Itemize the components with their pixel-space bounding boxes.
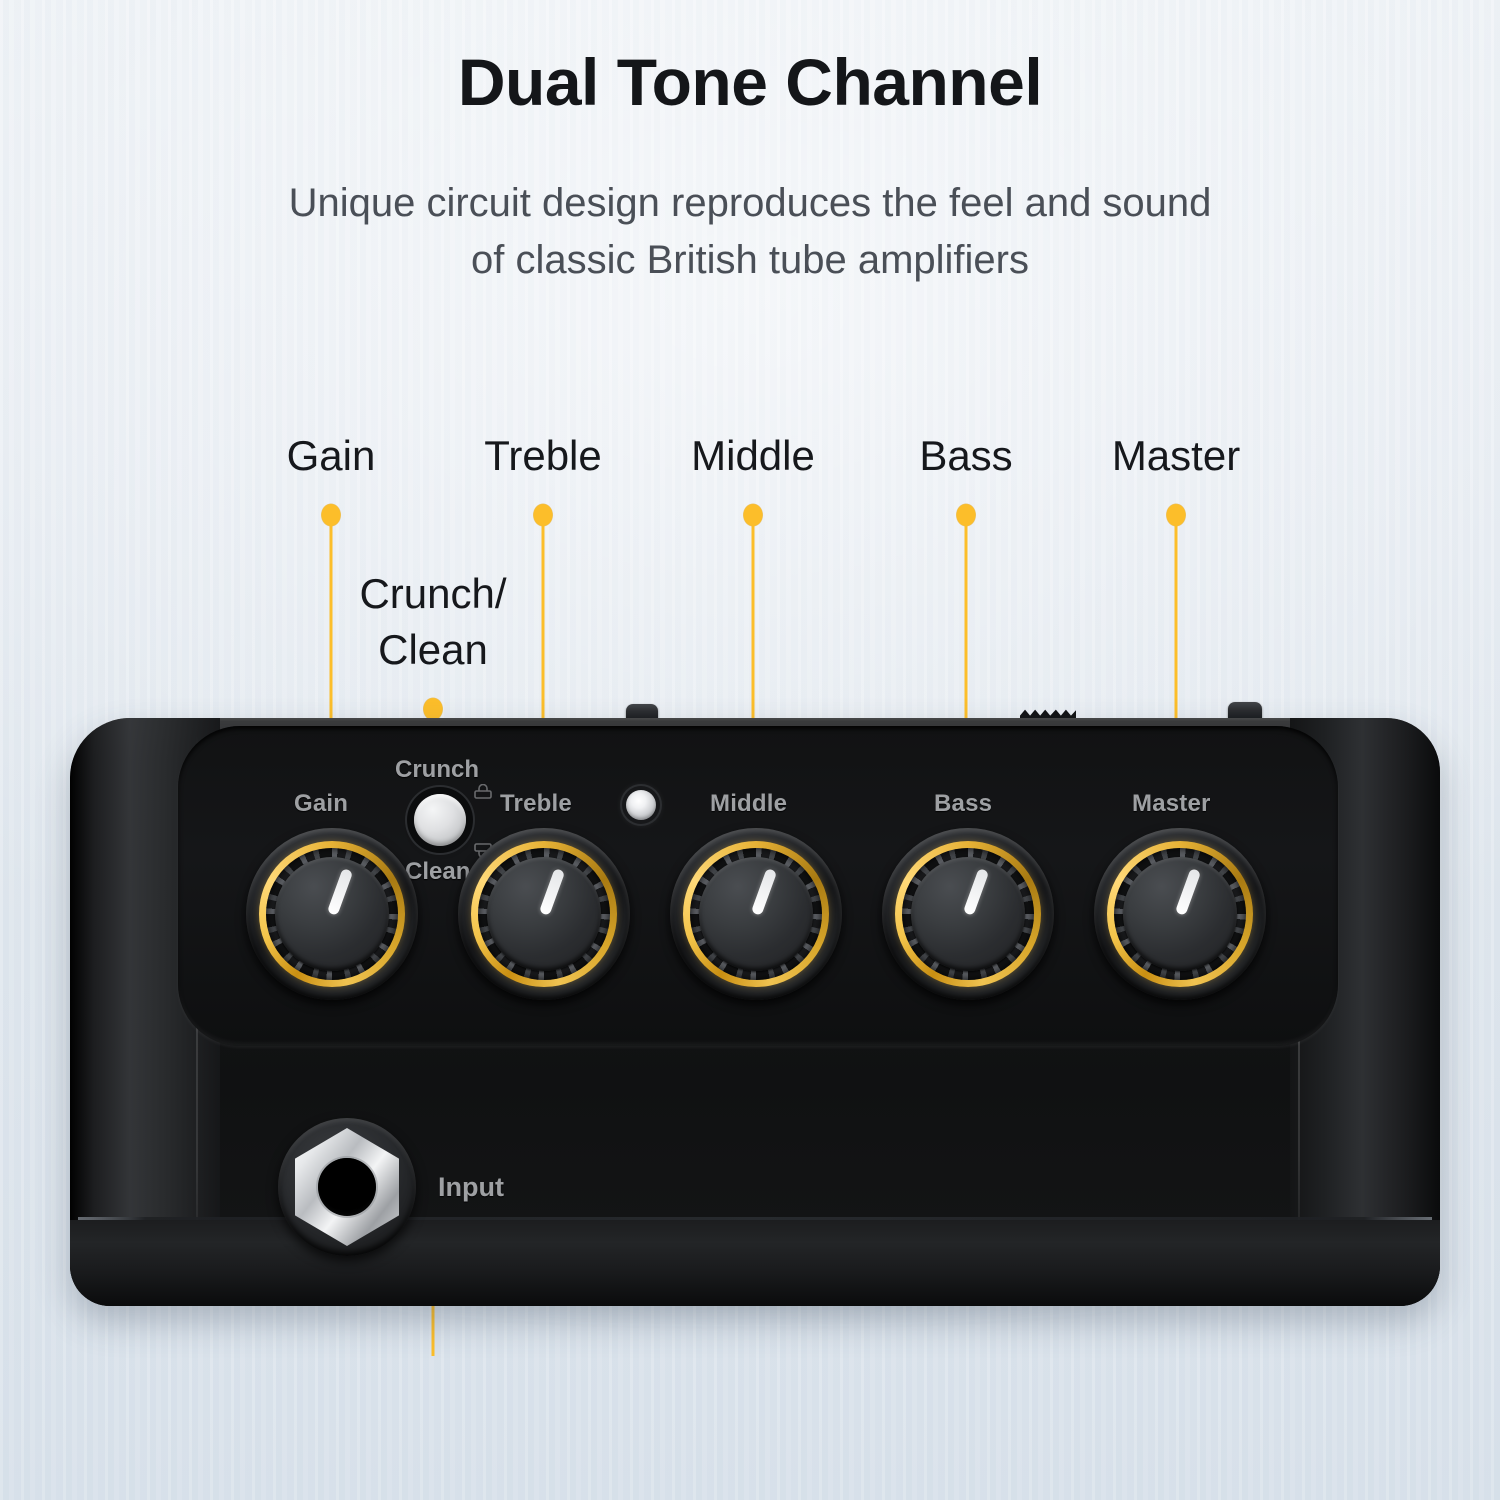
subtitle-line-1: Unique circuit design reproduces the fee… [289, 181, 1212, 225]
callout-middle-label: Middle [691, 432, 815, 479]
callout-crunch-clean-label: Crunch/ [359, 570, 506, 617]
callout-gain-label: Gain [287, 432, 376, 479]
callout-bass-label: Bass [919, 432, 1012, 479]
panel-label-middle: Middle [710, 790, 787, 818]
crunch-amp-icon [472, 784, 494, 802]
callout-crunch-clean-label2: Clean [378, 626, 488, 673]
callout-treble-label: Treble [484, 432, 602, 479]
panel-label-treble: Treble [500, 790, 572, 818]
panel-label-master: Master [1132, 790, 1211, 818]
page-title: Dual Tone Channel [0, 46, 1500, 120]
callout-master-label: Master [1112, 432, 1240, 479]
page-subtitle: Unique circuit design reproduces the fee… [190, 175, 1310, 289]
subtitle-line-2: of classic British tube amplifiers [190, 232, 1310, 289]
treble-knob[interactable] [458, 828, 630, 1000]
power-led-indicator [626, 790, 656, 820]
amplifier-device: Gain Treble Middle Bass Master Crunch Cl… [70, 718, 1440, 1318]
device-bottom-edge [70, 1220, 1440, 1306]
product-feature-image: Dual Tone Channel Unique circuit design … [0, 0, 1500, 1500]
input-jack[interactable] [278, 1118, 416, 1256]
master-knob[interactable] [1094, 828, 1266, 1000]
panel-label-input: Input [438, 1172, 504, 1203]
bass-knob[interactable] [882, 828, 1054, 1000]
input-jack-bore [318, 1158, 376, 1216]
middle-knob[interactable] [670, 828, 842, 1000]
device-body: Gain Treble Middle Bass Master Crunch Cl… [70, 718, 1440, 1306]
gain-knob[interactable] [246, 828, 418, 1000]
panel-label-gain: Gain [294, 790, 348, 818]
toggle-label-crunch: Crunch [395, 756, 479, 784]
panel-label-bass: Bass [934, 790, 992, 818]
